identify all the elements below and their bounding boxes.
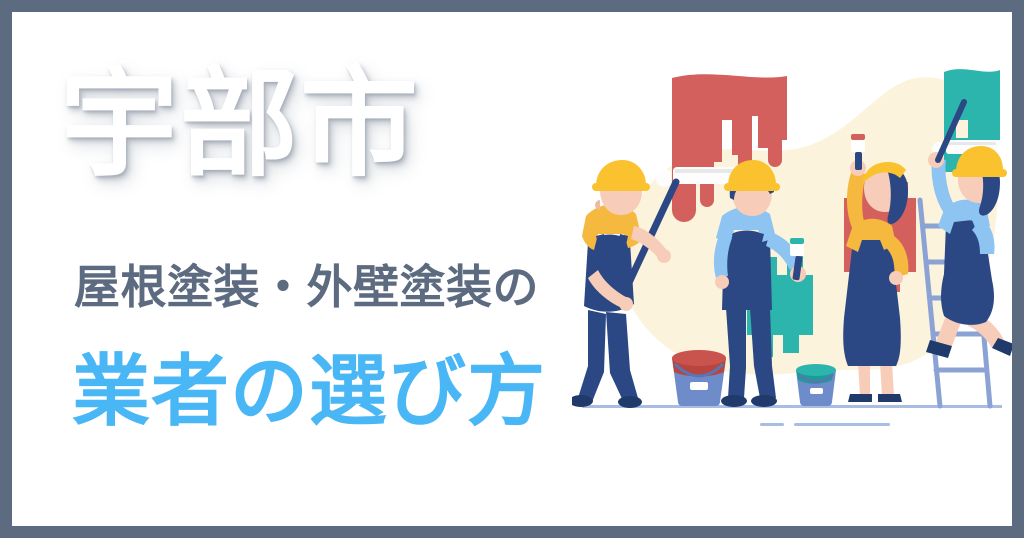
hard-hat-brim (952, 169, 1007, 177)
paint-bucket-red (672, 350, 726, 406)
hand (889, 271, 903, 285)
shoe (848, 394, 872, 402)
bucket-label (810, 388, 823, 394)
shoe (878, 394, 902, 402)
city-title: 宇部市 (60, 66, 420, 184)
ground-dash-short (760, 423, 784, 426)
hard-hat-brim (724, 183, 780, 191)
hand (619, 297, 633, 311)
main-headline: 業者の選び方 (72, 352, 546, 430)
shoe (751, 395, 777, 407)
sub-headline: 屋根塗装・外壁塗装の (74, 264, 539, 310)
paint-bucket-teal (796, 364, 836, 406)
hand (715, 275, 729, 289)
shoe (618, 396, 642, 408)
ground-dash-long (794, 423, 890, 426)
bucket-label (690, 382, 708, 390)
hand (657, 249, 671, 263)
banner-canvas: 宇部市 屋根塗装・外壁塗装の 業者の選び方 (12, 12, 1012, 526)
shoe (721, 395, 747, 407)
eyecatch-banner: 宇部市 屋根塗装・外壁塗装の 業者の選び方 (0, 0, 1024, 538)
hard-hat-brim (592, 183, 650, 191)
painters-illustration (572, 20, 1012, 526)
text-block: 宇部市 屋根塗装・外壁塗装の 業者の選び方 (12, 12, 632, 526)
